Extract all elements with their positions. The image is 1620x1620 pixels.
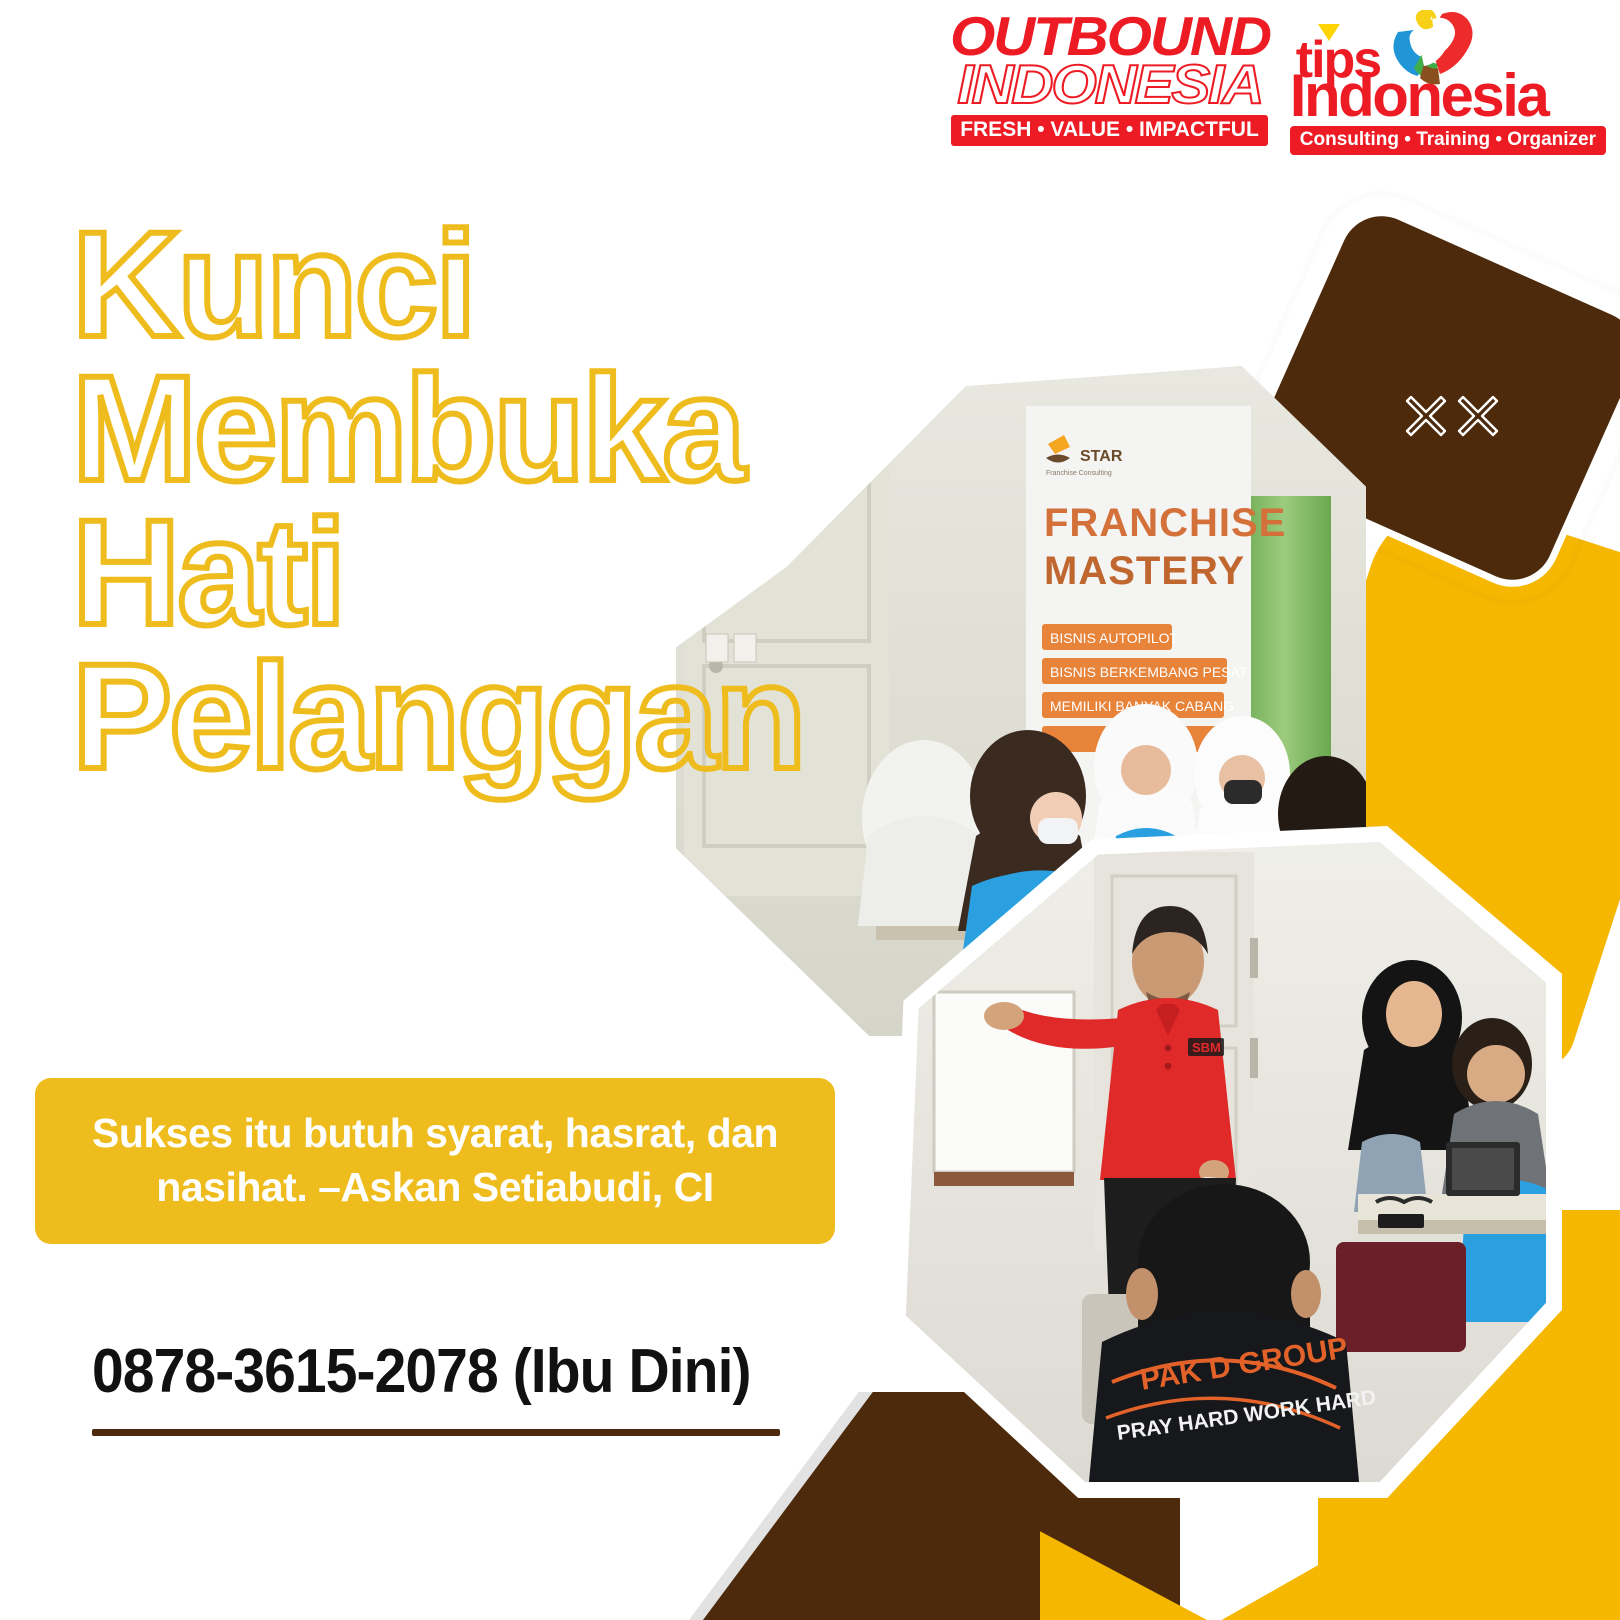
headline-line-1-fill: Kunci [72, 212, 1092, 356]
tips-logo-word-1: tips [1296, 40, 1380, 82]
brand-logo-bar: OUTBOUND INDONESIA FRESH • VALUE • IMPAC… [951, 10, 1606, 155]
x-marks-decor-group [1404, 394, 1500, 438]
tips-figure-mark-icon [1384, 10, 1476, 88]
svg-text:SBM: SBM [1192, 1040, 1221, 1055]
svg-text:FRANCHISE: FRANCHISE [1044, 501, 1286, 545]
tips-indonesia-logo: tips Indonesia Consulting • Training • O… [1290, 10, 1606, 155]
outbound-logo-tagline: FRESH • VALUE • IMPACTFUL [951, 115, 1268, 146]
x-mark-icon [1404, 394, 1448, 438]
outbound-logo-word-2: INDONESIA [957, 58, 1262, 110]
contact-underline-rule [92, 1429, 780, 1436]
tips-logo-tagline: Consulting • Training • Organizer [1290, 126, 1606, 155]
svg-text:BISNIS BERKEMBANG PESAT: BISNIS BERKEMBANG PESAT [1050, 664, 1248, 680]
headline-line-1: Kunci [72, 212, 1092, 356]
quote-line-1: Sukses itu butuh syarat, hasrat, dan [69, 1106, 801, 1160]
svg-text:BISNIS AUTOPILOT: BISNIS AUTOPILOT [1050, 630, 1179, 646]
svg-text:STAR: STAR [1080, 448, 1123, 465]
x-mark-icon [1456, 394, 1500, 438]
quote-line-2: nasihat. –Askan Setiabudi, CI [69, 1160, 801, 1214]
photo-trainer-presentation-illustration: SBM [906, 842, 1546, 1482]
svg-text:MASTERY: MASTERY [1044, 549, 1245, 593]
photo-trainer-presentation: SBM [906, 842, 1546, 1482]
contact-phone-number[interactable]: 0878-3615-2078 (Ibu Dini) [92, 1336, 751, 1407]
tips-logo-top-row: tips [1290, 10, 1476, 82]
diamond-spark-icon [1318, 24, 1340, 41]
quote-callout-box: Sukses itu butuh syarat, hasrat, dan nas… [35, 1078, 835, 1244]
poster-canvas: STAR Franchise Consulting FRANCHISE MAST… [0, 0, 1620, 1620]
svg-text:Franchise Consulting: Franchise Consulting [1046, 470, 1112, 477]
outbound-indonesia-logo: OUTBOUND INDONESIA FRESH • VALUE • IMPAC… [951, 10, 1268, 146]
